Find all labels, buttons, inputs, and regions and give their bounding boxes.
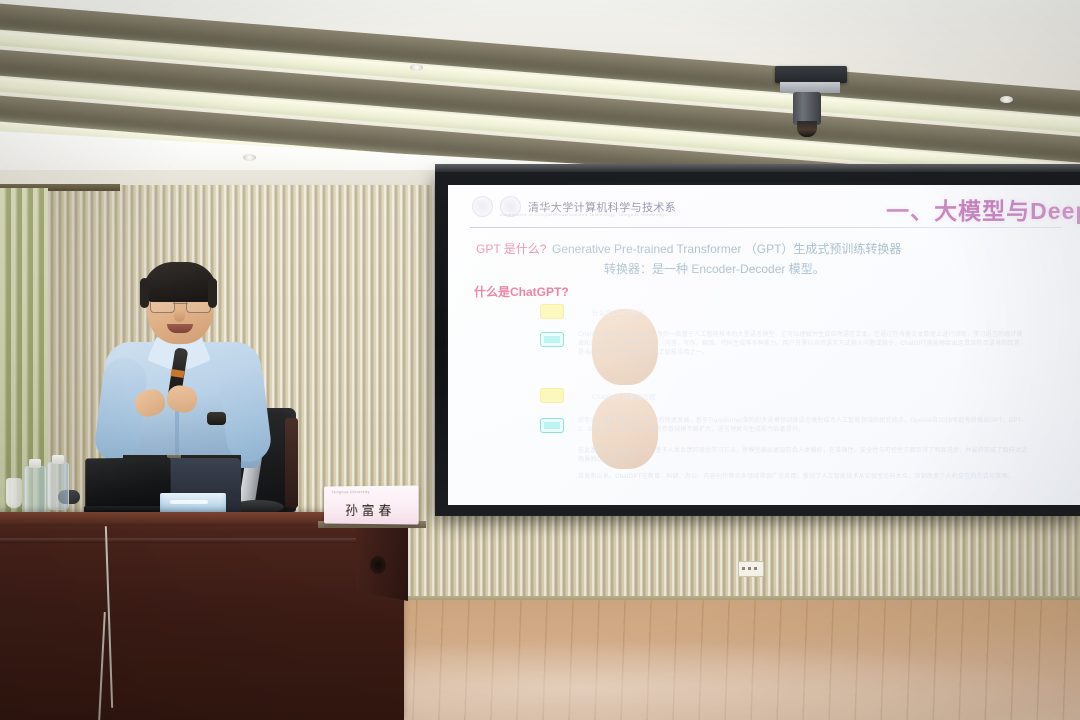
name-placard: Tsinghua University 孙富春 [324,485,419,524]
block-text: 自发布以来，ChatGPT在教育、科研、办公、内容创作等众多领域得到广泛应用，推… [578,473,1028,482]
ceiling [0,0,1080,190]
bullet-marker-cyan-icon [540,418,564,433]
bullet-marker-yellow-icon [540,304,564,319]
bullet-marker-cyan-icon [540,332,564,347]
logo-subtitle: Department of Computer Science and Techn… [500,212,665,217]
block-text: 近年来，随着深度学习与算力的快速发展，基于Transformer架构的大规模预训… [578,417,1028,435]
recessed-light-icon [1000,96,1013,103]
paper-cup [6,478,22,508]
header-divider [470,227,1062,228]
chair-side-panel [285,418,298,508]
nose [174,310,185,322]
projector-mount [775,66,847,83]
wristwatch-icon [207,412,226,425]
lecture-hall-photo: 清华大学计算机科学与技术系 Department of Computer Sci… [0,0,1080,720]
podium-cable-grommet [370,556,386,574]
chatgpt-question-label: 什么是ChatGPT? [474,283,569,300]
podium-trim [0,538,404,543]
gpt-question-answer: Generative Pre-trained Transformer （GPT）… [552,240,901,257]
projector-lens-icon [797,121,817,137]
slide-header: 清华大学计算机科学与技术系 Department of Computer Sci… [448,185,1080,225]
gpt-question-label: GPT 是什么? [476,240,546,257]
podium-desk [0,512,404,720]
tsinghua-seal-icon [472,196,493,217]
placard-subtitle: Tsinghua University [331,490,369,494]
hair [143,262,217,302]
bullet-marker-yellow-icon [540,388,564,403]
hair-right-side [208,278,217,308]
recessed-light-icon [243,154,256,161]
gpt-answer-line-2: 转换器：是一种 Encoder-Decoder 模型。 [604,260,825,277]
slide-title: 一、大模型与Deepse [886,192,1080,226]
wall-outlet-icon [738,561,764,577]
water-bottle [24,466,46,514]
block-text: 在此基础上，OpenAI引入了基于人类反馈的强化学习方法，使模型输出更加符合人类… [578,447,1028,465]
speaker-name: 孙富春 [324,500,419,520]
block-text: ChatGPT是由OpenAI公司开发的一款基于人工智能技术的大型语言模型，它可… [578,331,1028,358]
water-bottle [47,462,69,510]
laptop-computer [85,457,170,510]
recessed-light-icon [410,64,423,71]
presentation-slide: 清华大学计算机科学与技术系 Department of Computer Sci… [448,185,1080,505]
